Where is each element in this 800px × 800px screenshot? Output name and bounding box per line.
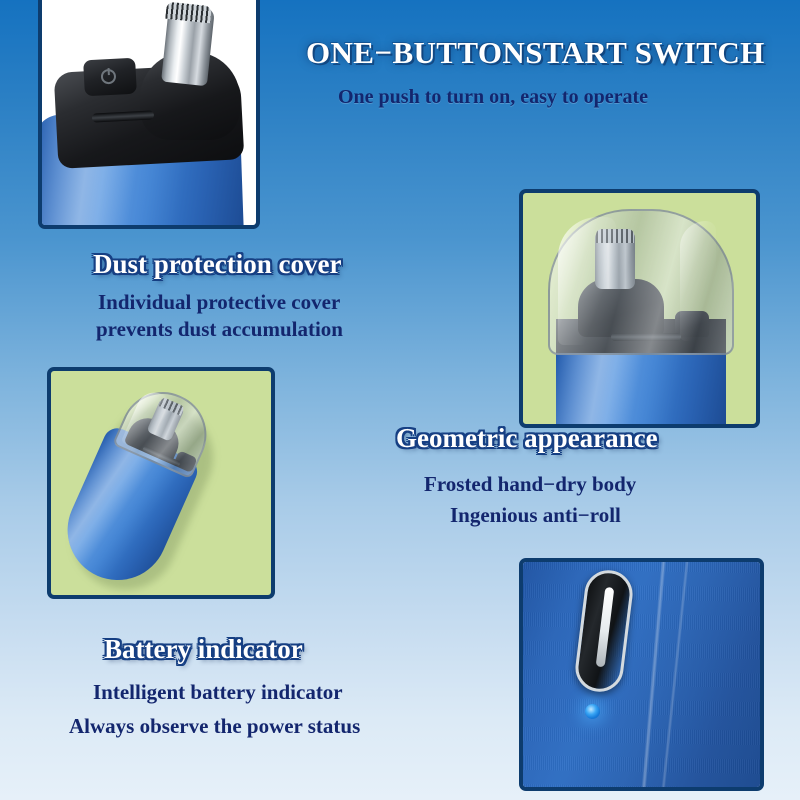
dust-cap-photo (523, 193, 756, 424)
dust-cap-photo-panel (519, 189, 760, 428)
feature-heading-battery-indicator: Battery indicator (104, 634, 303, 665)
full-body-photo-panel (47, 367, 275, 599)
trimmer-whole-unit (52, 376, 227, 595)
trimmer-head-photo-panel (38, 0, 260, 229)
feature-text-dust-protection-cover-line1: Individual protective cover (98, 290, 340, 315)
dust-cover-gloss-right (680, 221, 716, 341)
led-indicator-photo (523, 562, 760, 787)
dust-cover-gloss (121, 387, 169, 452)
power-icon (101, 69, 117, 85)
trimmer-body-highlight (556, 343, 726, 424)
feature-text-geometric-appearance-line1: Frosted hand−dry body (424, 472, 636, 497)
trimmer-body-surface (523, 562, 760, 787)
power-button-bar (596, 587, 615, 668)
trimmer-head-photo (42, 0, 256, 225)
battery-indicator-led (585, 704, 600, 719)
feature-text-dust-protection-cover-line2: prevents dust accumulation (96, 317, 343, 342)
page-subtitle: One push to turn on, easy to operate (338, 86, 648, 109)
feature-heading-geometric-appearance: Geometric appearance (396, 423, 658, 454)
feature-text-battery-indicator-line2: Always observe the power status (69, 714, 360, 739)
dust-protection-cover (548, 209, 734, 355)
feature-heading-dust-protection-cover: Dust protection cover (93, 249, 341, 280)
feature-text-geometric-appearance-line2: Ingenious anti−roll (450, 503, 621, 528)
led-indicator-photo-panel (519, 558, 764, 791)
dust-cover-gloss (558, 217, 616, 345)
feature-text-battery-indicator-line1: Intelligent battery indicator (93, 680, 343, 705)
power-button-pad[interactable] (83, 58, 137, 97)
product-infographic-poster: ONE−BUTTONSTART SWITCH One push to turn … (0, 0, 800, 800)
page-title: ONE−BUTTONSTART SWITCH (306, 35, 765, 71)
full-body-photo (51, 371, 271, 595)
